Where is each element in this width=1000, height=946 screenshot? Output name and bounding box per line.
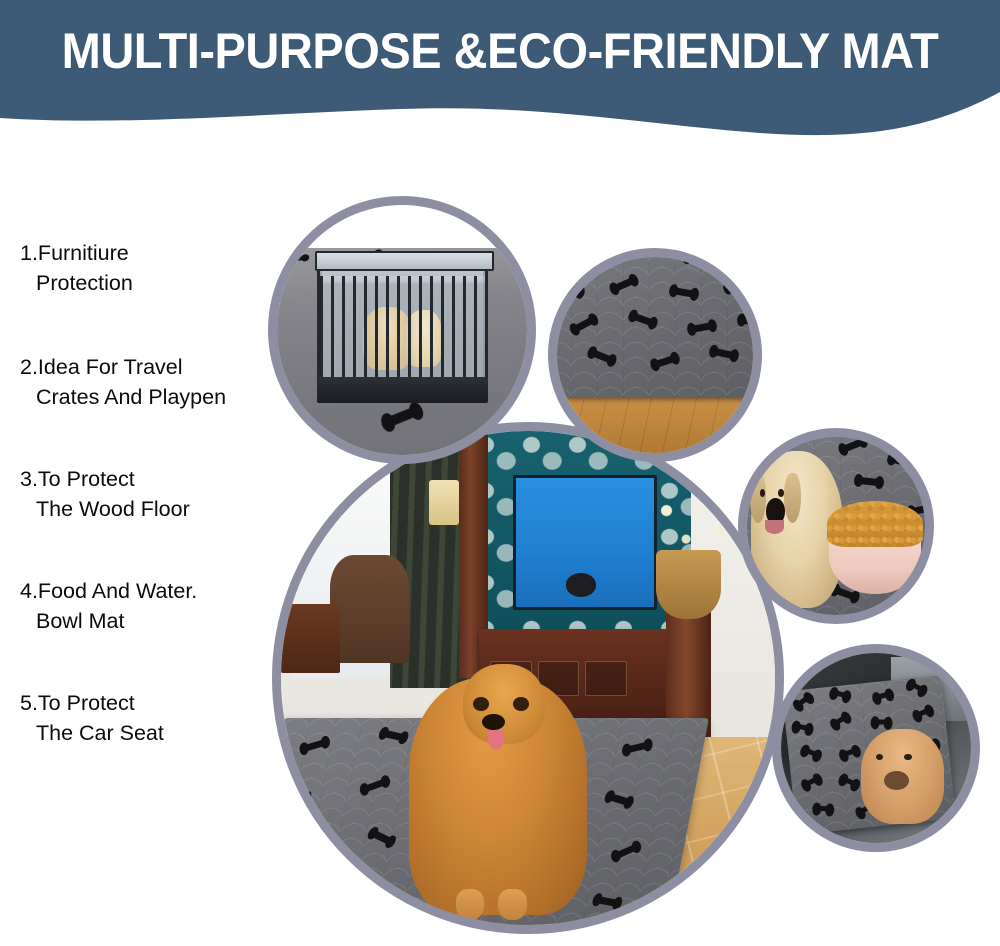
feature-line-1: 5.To Protect	[20, 688, 288, 718]
crate-scene	[277, 205, 527, 455]
feature-line-2: Bowl Mat	[20, 606, 288, 636]
photo-circle-wood-floor	[548, 248, 762, 462]
armchair	[330, 555, 409, 664]
page-title: MULTI-PURPOSE &ECO-FRIENDLY MAT	[30, 22, 970, 80]
crate-bars	[320, 276, 485, 383]
pet-mat	[548, 248, 762, 398]
dog-paw-right	[498, 889, 526, 920]
wood-floor-scene	[557, 257, 753, 453]
feature-line-2: Protection	[20, 268, 288, 298]
feature-line-2: Crates And Playpen	[20, 382, 288, 412]
product-infographic: MULTI-PURPOSE &ECO-FRIENDLY MAT 1.Furnit…	[0, 0, 1000, 946]
feature-item-furniture-protection: 1.Furnitiure Protection	[20, 238, 288, 298]
feature-item-travel-crates: 2.Idea For Travel Crates And Playpen	[20, 352, 288, 412]
side-table	[281, 604, 340, 673]
dog-ear-right	[784, 473, 801, 523]
crate-top-panel	[315, 251, 494, 271]
feature-item-car-seat: 5.To Protect The Car Seat	[20, 688, 288, 748]
feature-line-2: The Car Seat	[20, 718, 288, 748]
food-bowl-scene	[747, 437, 925, 615]
golden-retriever-dog	[409, 678, 587, 915]
feature-item-food-water-bowl: 4.Food And Water. Bowl Mat	[20, 576, 288, 636]
flower-arrangement	[642, 475, 741, 564]
photo-circle-living-room	[272, 422, 784, 934]
dog-eye-right	[778, 489, 784, 497]
metal-dog-crate	[317, 260, 488, 396]
dog-eye-left	[876, 754, 884, 761]
feature-line-2: The Wood Floor	[20, 494, 288, 524]
feature-line-1: 3.To Protect	[20, 464, 288, 494]
dog-tongue	[765, 520, 784, 534]
dog-eye-left	[760, 489, 766, 497]
dog-eye-right	[904, 754, 912, 761]
dog-paw-left	[456, 889, 484, 920]
dog-eye-right	[513, 697, 529, 711]
feature-list: 1.Furnitiure Protection 2.Idea For Trave…	[20, 238, 288, 772]
dog-ear-left	[750, 473, 767, 523]
console-drawer	[585, 661, 627, 696]
header-banner: MULTI-PURPOSE &ECO-FRIENDLY MAT	[0, 0, 1000, 145]
dog-nose	[884, 771, 909, 790]
puppy-dog	[861, 729, 945, 824]
television	[513, 475, 657, 609]
photo-circle-car-seat	[772, 644, 980, 852]
photo-circle-food-bowl	[738, 428, 934, 624]
kibble-food	[827, 501, 923, 547]
crate-base-tray	[317, 377, 489, 403]
feature-line-1: 1.Furnitiure	[20, 238, 288, 268]
feature-item-wood-floor: 3.To Protect The Wood Floor	[20, 464, 288, 524]
tv-reflection	[566, 573, 596, 596]
photo-circle-travel-crate	[268, 196, 536, 464]
table-lamp	[429, 480, 459, 524]
feature-line-1: 2.Idea For Travel	[20, 352, 288, 382]
car-seat-scene	[781, 653, 971, 843]
dog-tongue	[488, 730, 504, 749]
living-room-scene	[281, 431, 775, 925]
feature-line-1: 4.Food And Water.	[20, 576, 288, 606]
